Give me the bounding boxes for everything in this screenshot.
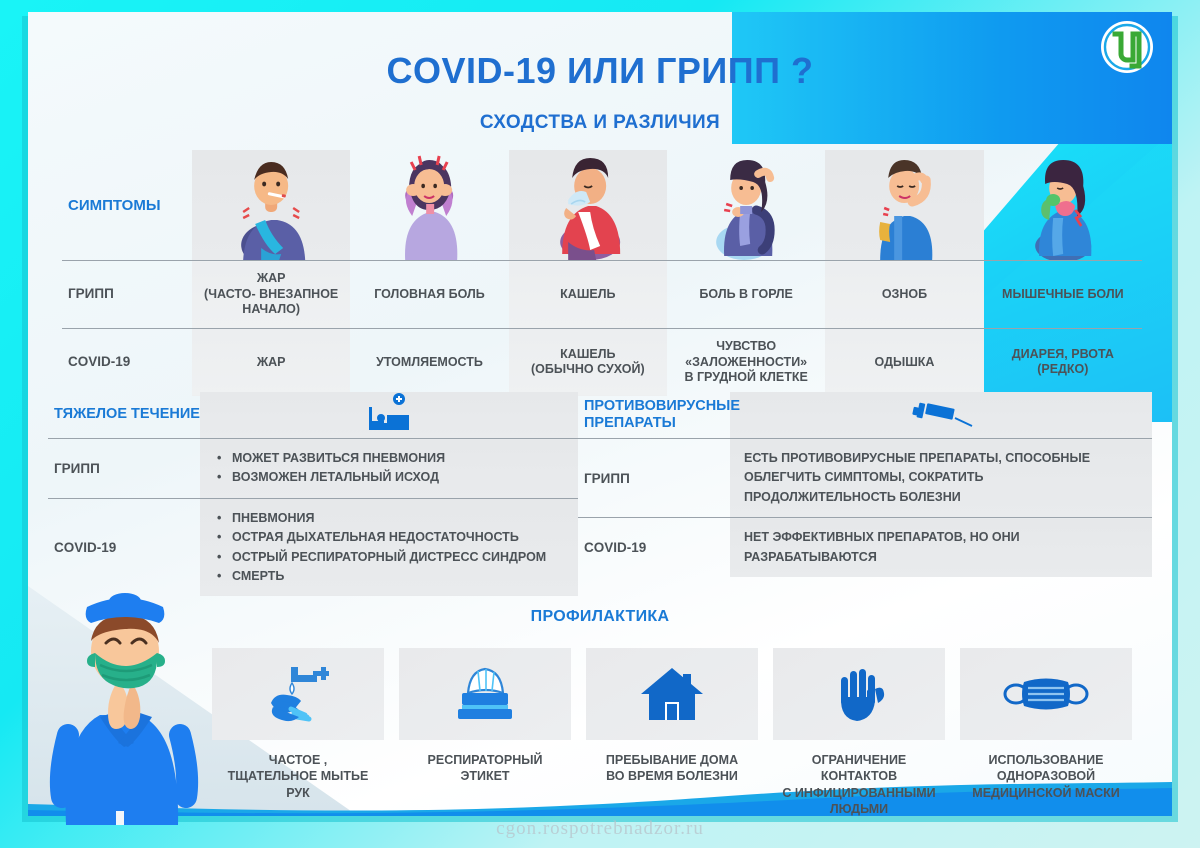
symptom-flu-chills: ОЗНОБ — [825, 261, 983, 329]
severe-header-row: ТЯЖЕЛОЕ ТЕЧЕНИЕ — [48, 392, 578, 439]
antiviral-flu-text: ЕСТЬ ПРОТИВОВИРУСНЫЕ ПРЕПАРАТЫ, СПОСОБНЫ… — [730, 439, 1152, 518]
list-item: ПНЕВМОНИЯ — [230, 509, 564, 528]
doctor-with-mask-illustration — [40, 585, 210, 825]
symptoms-illustration-row: СИМПТОМЫ — [62, 150, 1142, 261]
antiviral-row-label-flu: ГРИПП — [578, 439, 730, 518]
antiviral-section-label-cell: ПРОТИВОВИРУСНЫЕ ПРЕПАРАТЫ — [578, 392, 730, 439]
symptom-illustration-cough — [509, 150, 667, 261]
symptom-covid-chest: ЧУВСТВО «ЗАЛОЖЕННОСТИ» В ГРУДНОЙ КЛЕТКЕ — [667, 328, 825, 395]
symptom-covid-diarrhea: ДИАРЕЯ, РВОТА (РЕДКО) — [984, 328, 1142, 395]
symptoms-section-label: СИМПТОМЫ — [62, 197, 192, 214]
list-item: ОСТРЫЙ РЕСПИРАТОРНЫЙ ДИСТРЕСС СИНДРОМ — [230, 548, 564, 567]
symptom-flu-headache: ГОЛОВНАЯ БОЛЬ — [350, 261, 508, 329]
symptom-flu-fever: ЖАР (ЧАСТО- ВНЕЗАПНОЕ НАЧАЛО) — [192, 261, 350, 329]
symptom-covid-cough: КАШЕЛЬ (ОБЫЧНО СУХОЙ) — [509, 328, 667, 395]
symptom-illustration-headache — [350, 150, 508, 261]
symptom-illustration-chills — [825, 150, 983, 261]
prevention-item-respiratory-etiquette: РЕСПИРАТОРНЫЙ ЭТИКЕТ — [399, 648, 571, 817]
symptoms-section-label-cell: СИМПТОМЫ — [62, 150, 192, 261]
prevention-item-stay-home: ПРЕБЫВАНИЕ ДОМА ВО ВРЕМЯ БОЛЕЗНИ — [586, 648, 758, 817]
antiviral-block: ПРОТИВОВИРУСНЫЕ ПРЕПАРАТЫ ГРИ — [578, 392, 1152, 577]
symptoms-row-label-flu: ГРИПП — [62, 261, 192, 329]
antiviral-section-label: ПРОТИВОВИРУСНЫЕ ПРЕПАРАТЫ — [578, 398, 724, 433]
severe-row-flu: ГРИПП МОЖЕТ РАЗВИТЬСЯ ПНЕВМОНИЯ ВОЗМОЖЕН… — [48, 439, 578, 499]
severe-flu-list: МОЖЕТ РАЗВИТЬСЯ ПНЕВМОНИЯ ВОЗМОЖЕН ЛЕТАЛ… — [200, 439, 578, 499]
symptom-flu-cough: КАШЕЛЬ — [509, 261, 667, 329]
symptoms-row-label-covid: COVID-19 — [62, 328, 192, 395]
prevention-item-handwashing: ЧАСТОЕ , ТЩАТЕЛЬНОЕ МЫТЬЕ РУК — [212, 648, 384, 817]
prevention-caption: ОГРАНИЧЕНИЕ КОНТАКТОВ С ИНФИЦИРОВАННЫМИ … — [773, 752, 945, 817]
symptom-flu-sore-throat: БОЛЬ В ГОРЛЕ — [667, 261, 825, 329]
prevention-list: ЧАСТОЕ , ТЩАТЕЛЬНОЕ МЫТЬЕ РУК РЕСПИРАТОР… — [212, 648, 1142, 817]
medical-mask-icon — [960, 648, 1132, 740]
prevention-caption: ПРЕБЫВАНИЕ ДОМА ВО ВРЕМЯ БОЛЕЗНИ — [586, 752, 758, 785]
severe-section-label: ТЯЖЕЛОЕ ТЕЧЕНИЕ — [48, 406, 200, 423]
prevention-caption: ЧАСТОЕ , ТЩАТЕЛЬНОЕ МЫТЬЕ РУК — [212, 752, 384, 801]
symptoms-row-flu: ГРИПП ЖАР (ЧАСТО- ВНЕЗАПНОЕ НАЧАЛО) ГОЛО… — [62, 261, 1142, 329]
severe-row-label-covid: COVID-19 — [48, 498, 200, 596]
prevention-item-mask: ИСПОЛЬЗОВАНИЕ ОДНОРАЗОВОЙ МЕДИЦИНСКОЙ МА… — [960, 648, 1132, 817]
symptom-illustration-fever — [192, 150, 350, 261]
severe-row-covid: COVID-19 ПНЕВМОНИЯ ОСТРАЯ ДЫХАТЕЛЬНАЯ НЕ… — [48, 498, 578, 596]
symptom-flu-muscle-pain: МЫШЕЧНЫЕ БОЛИ — [984, 261, 1142, 329]
list-item: СМЕРТЬ — [230, 567, 564, 586]
tissue-box-icon — [399, 648, 571, 740]
symptoms-row-covid: COVID-19 ЖАР УТОМЛЯЕМОСТЬ КАШЕЛЬ (ОБЫЧНО… — [62, 328, 1142, 395]
list-item: МОЖЕТ РАЗВИТЬСЯ ПНЕВМОНИЯ — [230, 449, 564, 468]
symptom-covid-fatigue: УТОМЛЯЕМОСТЬ — [350, 328, 508, 395]
severe-row-label-flu: ГРИПП — [48, 439, 200, 499]
antiviral-header-row: ПРОТИВОВИРУСНЫЕ ПРЕПАРАТЫ — [578, 392, 1152, 439]
hospital-bed-icon — [200, 392, 578, 439]
symptom-covid-fever: ЖАР — [192, 328, 350, 395]
prevention-caption: РЕСПИРАТОРНЫЙ ЭТИКЕТ — [399, 752, 571, 785]
list-item: ОСТРАЯ ДЫХАТЕЛЬНАЯ НЕДОСТАТОЧНОСТЬ — [230, 528, 564, 547]
severe-covid-list: ПНЕВМОНИЯ ОСТРАЯ ДЫХАТЕЛЬНАЯ НЕДОСТАТОЧН… — [200, 498, 578, 596]
house-icon — [586, 648, 758, 740]
antiviral-row-label-covid: COVID-19 — [578, 518, 730, 577]
antiviral-row-covid: COVID-19 НЕТ ЭФФЕКТИВНЫХ ПРЕПАРАТОВ, НО … — [578, 518, 1152, 577]
page-title: COVID-19 ИЛИ ГРИПП ? — [0, 50, 1200, 92]
prevention-caption: ИСПОЛЬЗОВАНИЕ ОДНОРАЗОВОЙ МЕДИЦИНСКОЙ МА… — [960, 752, 1132, 801]
symptom-illustration-sore-throat — [667, 150, 825, 261]
middle-section: ТЯЖЕЛОЕ ТЕЧЕНИЕ — [48, 392, 1152, 597]
severe-course-block: ТЯЖЕЛОЕ ТЕЧЕНИЕ — [48, 392, 578, 596]
symptom-illustration-muscle-pain — [984, 150, 1142, 261]
symptoms-table: СИМПТОМЫ — [62, 150, 1142, 396]
page-subtitle: СХОДСТВА И РАЗЛИЧИЯ — [0, 112, 1200, 134]
handwashing-tap-icon — [212, 648, 384, 740]
footer-watermark: cgon.rospotrebnadzor.ru — [0, 818, 1200, 840]
stop-hand-icon — [773, 648, 945, 740]
severe-section-label-cell: ТЯЖЕЛОЕ ТЕЧЕНИЕ — [48, 392, 200, 439]
prevention-item-limit-contacts: ОГРАНИЧЕНИЕ КОНТАКТОВ С ИНФИЦИРОВАННЫМИ … — [773, 648, 945, 817]
infographic-poster: COVID-19 ИЛИ ГРИПП ? СХОДСТВА И РАЗЛИЧИЯ… — [0, 0, 1200, 848]
symptom-covid-dyspnea: ОДЫШКА — [825, 328, 983, 395]
antiviral-row-flu: ГРИПП ЕСТЬ ПРОТИВОВИРУСНЫЕ ПРЕПАРАТЫ, СП… — [578, 439, 1152, 518]
poster-content: COVID-19 ИЛИ ГРИПП ? СХОДСТВА И РАЗЛИЧИЯ… — [0, 0, 1200, 848]
antiviral-covid-text: НЕТ ЭФФЕКТИВНЫХ ПРЕПАРАТОВ, НО ОНИ РАЗРА… — [730, 518, 1152, 577]
list-item: ВОЗМОЖЕН ЛЕТАЛЬНЫЙ ИСХОД — [230, 468, 564, 487]
syringe-icon — [730, 392, 1152, 439]
